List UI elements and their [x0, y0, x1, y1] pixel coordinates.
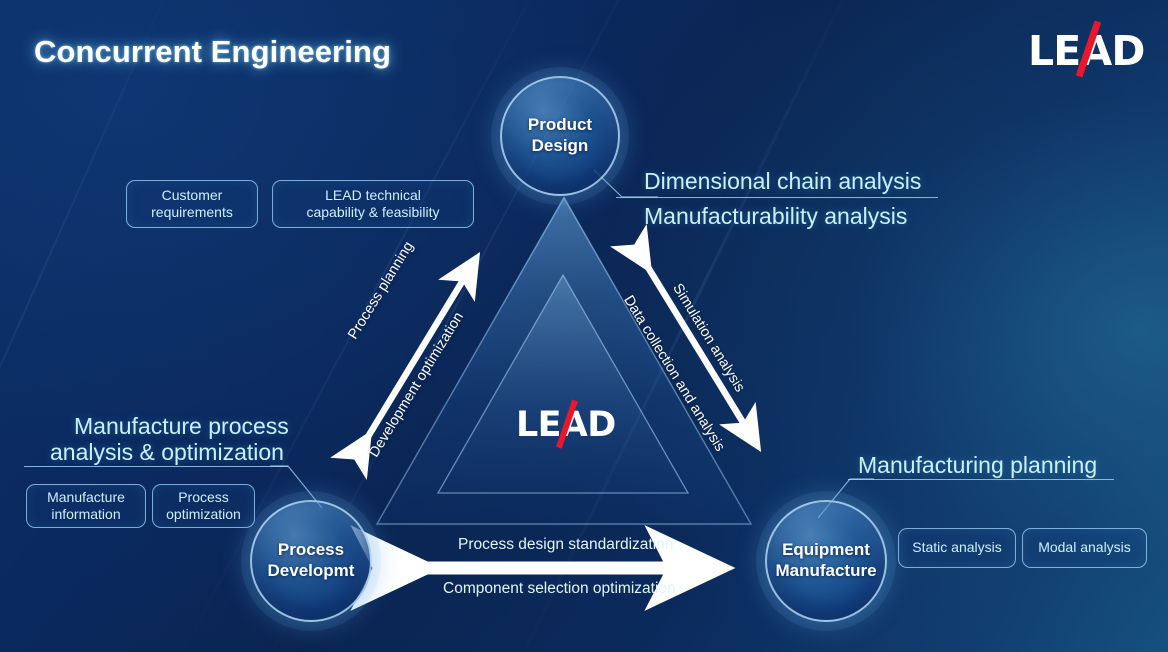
divider-left: [24, 466, 288, 467]
node-equipment-manufacture[interactable]: Equipment Manufacture: [765, 500, 887, 622]
pill-process-optimization-line2: optimization: [166, 506, 241, 522]
node-equipment-manufacture-line2: Manufacture: [775, 561, 876, 580]
pill-customer-requirements-line1: Customer: [162, 187, 223, 203]
node-product-design[interactable]: Product Design: [500, 76, 620, 196]
lead-logo: LEAD: [1028, 22, 1140, 78]
pill-lead-technical-line1: LEAD technical: [325, 187, 421, 203]
pill-lead-technical[interactable]: LEAD technical capability & feasibility: [272, 180, 474, 228]
pill-process-optimization-line1: Process: [178, 489, 229, 505]
page-title: Concurrent Engineering: [34, 34, 391, 70]
divider-manufacturing-planning: [848, 479, 1114, 480]
arrow-label-component-selection-optimization: Component selection optimization: [443, 580, 676, 598]
headline-manufacturing-planning: Manufacturing planning: [858, 450, 1097, 480]
headline-dimensional-chain-analysis: Dimensional chain analysis: [644, 166, 921, 196]
slide-canvas: Concurrent Engineering LEAD LEAD: [0, 0, 1168, 652]
pill-process-optimization[interactable]: Process optimization: [152, 484, 255, 528]
node-product-design-line1: Product: [528, 115, 592, 134]
pill-static-analysis[interactable]: Static analysis: [898, 528, 1016, 568]
pill-customer-requirements-line2: requirements: [151, 204, 233, 220]
bg-streak-4: [0, 0, 182, 652]
node-process-development-line1: Process: [278, 540, 344, 559]
pill-customer-requirements[interactable]: Customer requirements: [126, 180, 258, 228]
node-product-design-line2: Design: [532, 136, 589, 155]
node-equipment-manufacture-line1: Equipment: [782, 540, 870, 559]
pill-manufacture-information[interactable]: Manufacture information: [26, 484, 146, 528]
divider-right-top: [616, 197, 938, 198]
pill-lead-technical-line2: capability & feasibility: [306, 204, 439, 220]
node-process-development-line2: Developmt: [268, 561, 355, 580]
pill-manufacture-information-line2: information: [51, 506, 120, 522]
node-process-development[interactable]: Process Developmt: [250, 500, 372, 622]
pill-modal-analysis[interactable]: Modal analysis: [1022, 528, 1147, 568]
headline-manufacturability-analysis: Manufacturability analysis: [644, 201, 907, 231]
center-lead-logo: LEAD: [516, 400, 612, 452]
arrow-label-process-design-standardization: Process design standardization: [458, 536, 673, 554]
inner-triangle-outline: [436, 273, 690, 495]
pill-manufacture-information-line1: Manufacture: [47, 489, 125, 505]
headline-manufacture-process-line2: analysis & optimization: [50, 437, 284, 467]
